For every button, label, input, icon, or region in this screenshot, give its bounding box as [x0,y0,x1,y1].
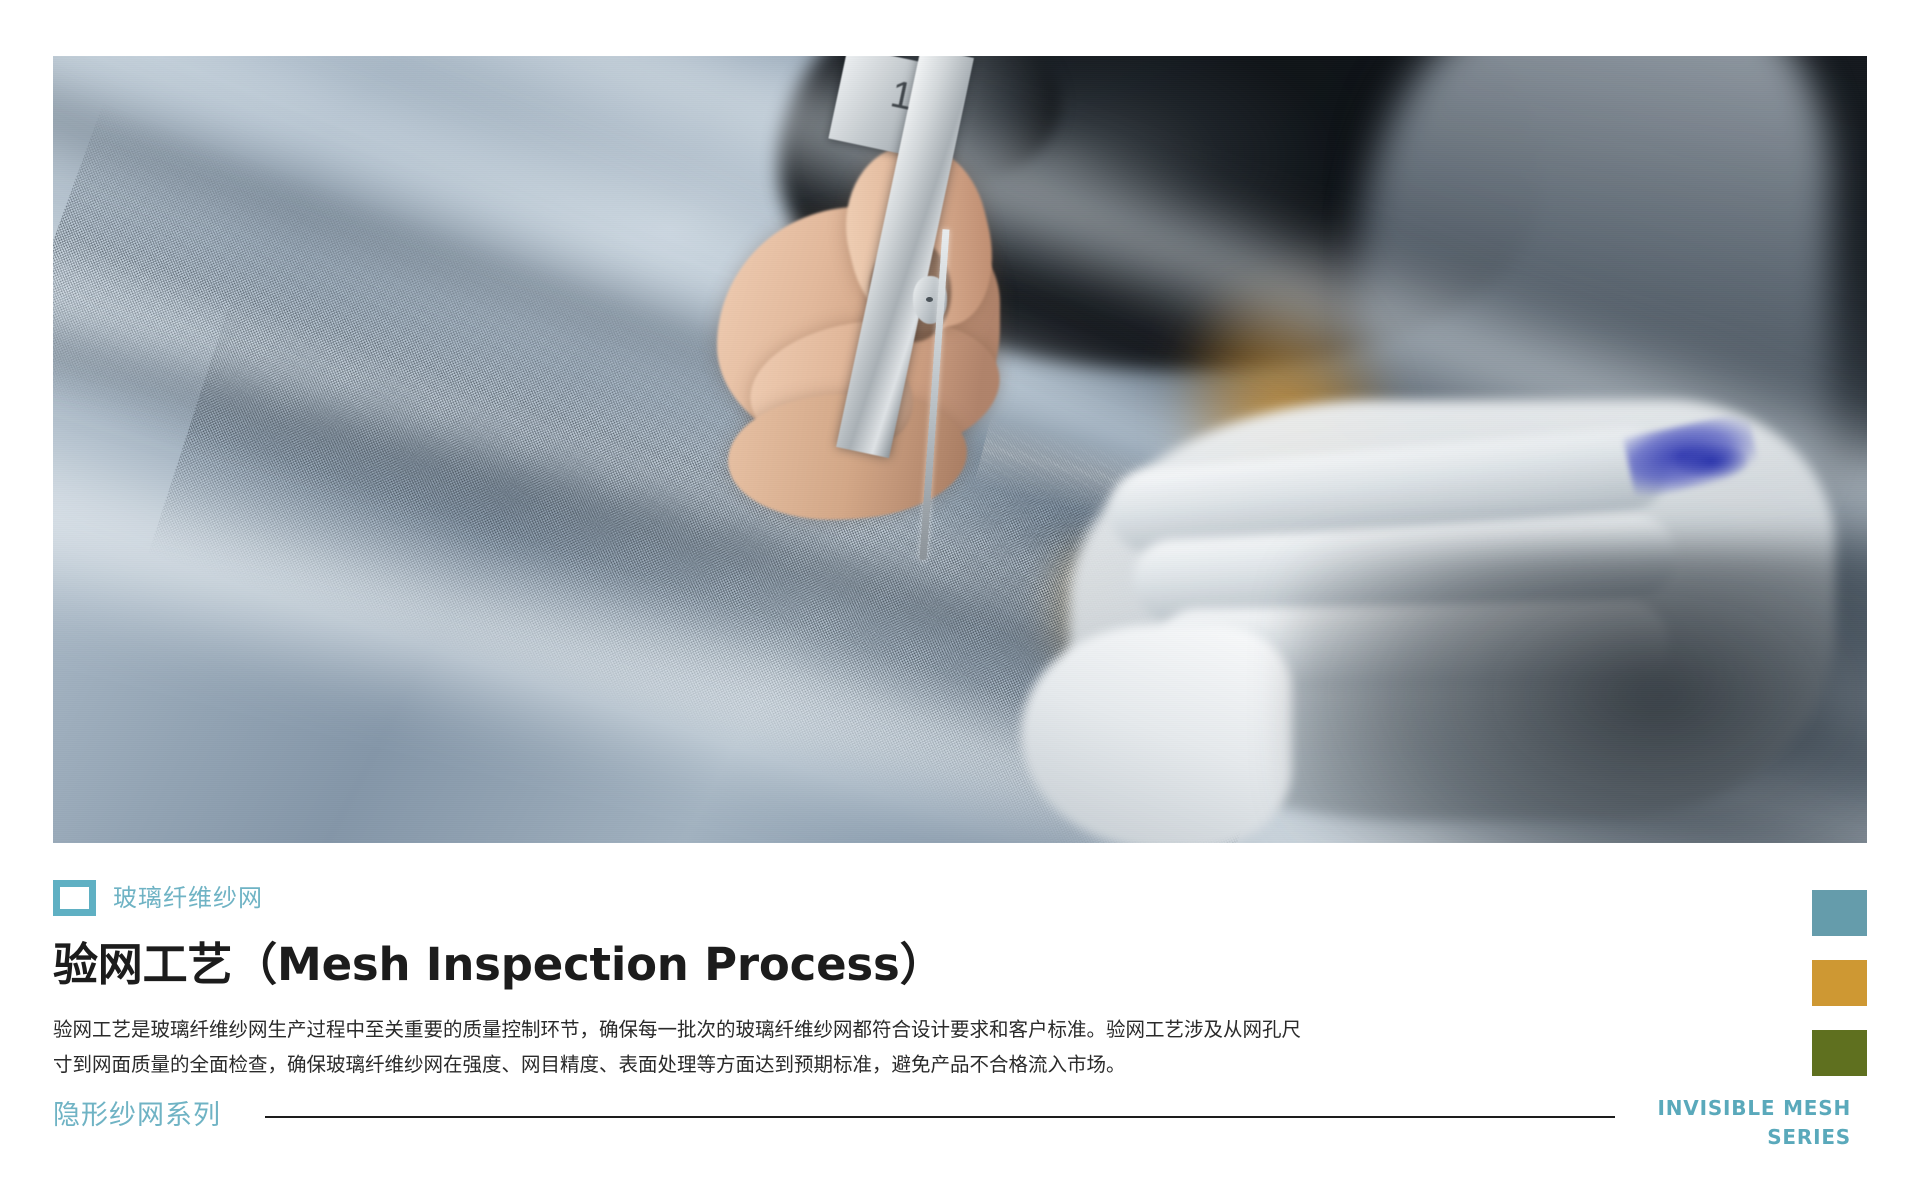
swatch-olive [1812,1030,1867,1076]
slide-page: 1 玻璃纤维纱网 验网工艺（Mesh Inspection Proc [0,0,1920,1200]
hero-photo-scene: 1 [53,56,1867,843]
footer-divider [265,1116,1615,1118]
footer-series-label-en: INVISIBLE MESH SERIES [1641,1094,1851,1152]
content-block: 玻璃纤维纱网 验网工艺（Mesh Inspection Process） 验网工… [53,876,1553,1083]
footer-series-en-line2: SERIES [1767,1125,1851,1149]
body-paragraph: 验网工艺是玻璃纤维纱网生产过程中至关重要的质量控制环节，确保每一批次的玻璃纤维纱… [53,1013,1318,1082]
footer-series-label-cn: 隐形纱网系列 [53,1094,221,1129]
operator-sleeve-shape [1359,56,1831,623]
category-eyebrow: 玻璃纤维纱网 [53,876,1553,920]
category-label: 玻璃纤维纱网 [113,886,263,910]
color-swatch-stack [1812,890,1867,1100]
swatch-teal [1812,890,1867,936]
footer-series-en-line1: INVISIBLE MESH [1658,1096,1851,1120]
background-vignette [1287,544,1867,843]
footer-bar: 隐形纱网系列 INVISIBLE MESH SERIES [53,1094,1867,1174]
screen-icon [53,880,96,916]
page-title: 验网工艺（Mesh Inspection Process） [53,938,1553,991]
swatch-amber [1812,960,1867,1006]
amber-background-blur-secondary [1033,528,1142,685]
hero-photo: 1 [53,56,1867,843]
